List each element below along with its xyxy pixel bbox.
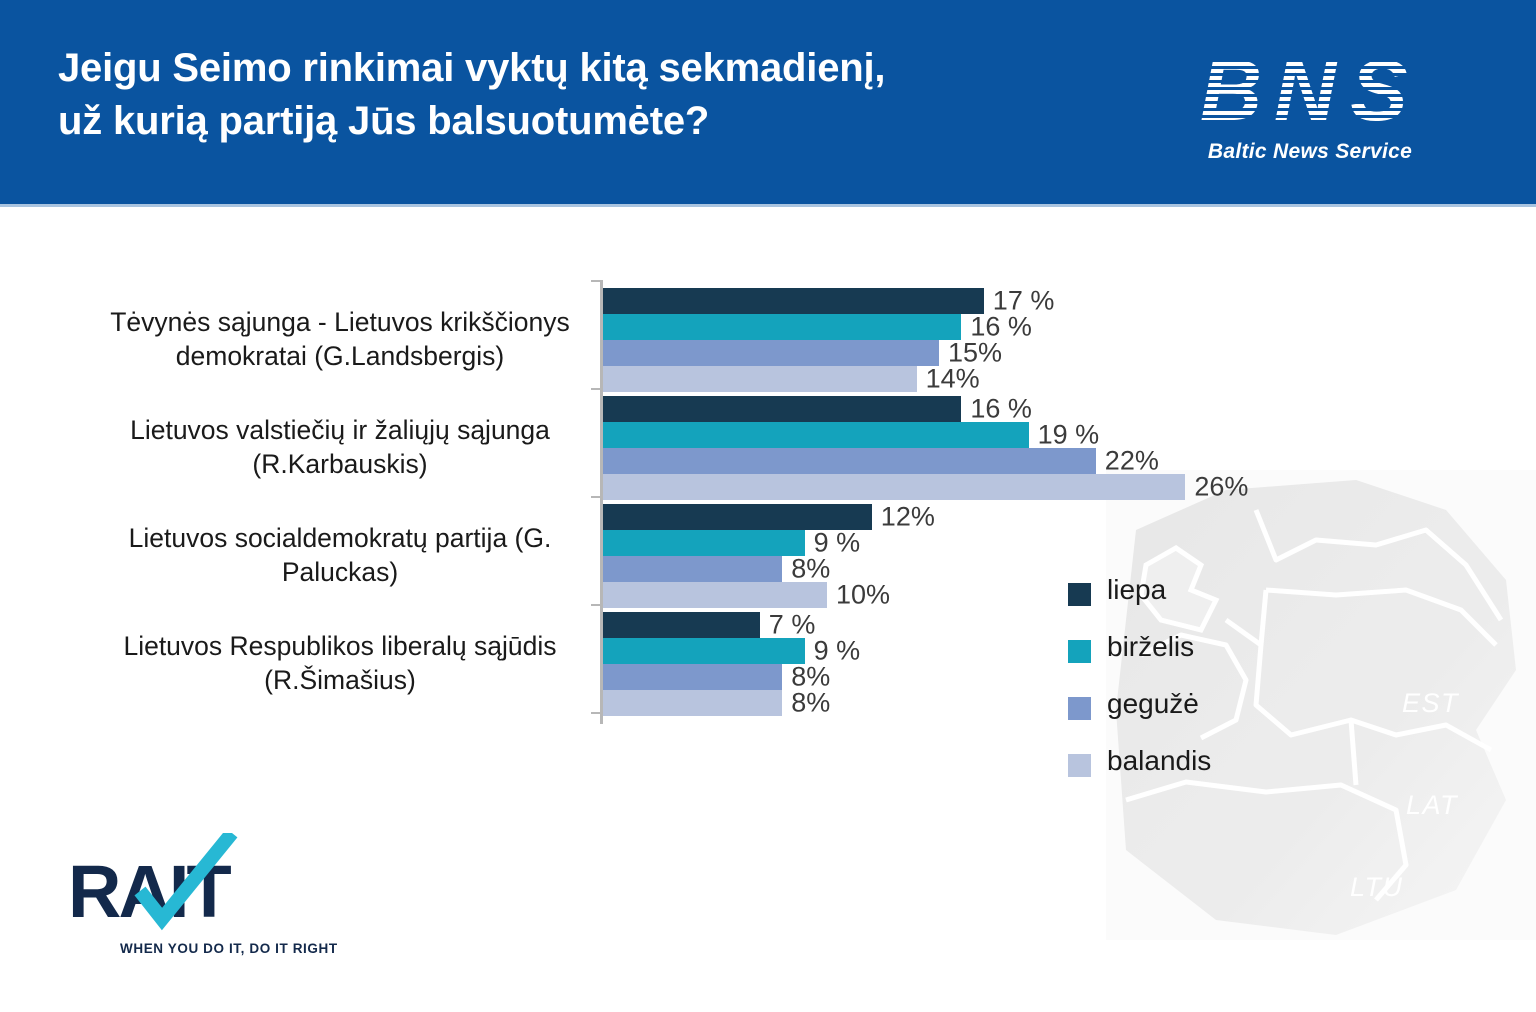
bns-logo-letter-s: S bbox=[1344, 48, 1412, 136]
bar bbox=[603, 396, 961, 422]
category-label: Lietuvos Respublikos liberalų sąjūdis (R… bbox=[100, 630, 580, 698]
bar-group-row: 15% bbox=[603, 340, 1303, 366]
bar bbox=[603, 340, 939, 366]
legend-item[interactable]: balandis bbox=[1068, 743, 1298, 800]
map-label-ltu: LTU bbox=[1350, 872, 1404, 903]
chart-legend: liepabirželisgegužėbalandis bbox=[1068, 572, 1298, 800]
legend-label: balandis bbox=[1107, 745, 1211, 777]
bns-logo-letter-b: B bbox=[1196, 48, 1264, 136]
bns-logo-mark: B N S bbox=[1194, 48, 1426, 136]
bar-value-label: 22% bbox=[1105, 446, 1159, 477]
legend-label: gegužė bbox=[1107, 688, 1199, 720]
axis-tick bbox=[591, 388, 600, 390]
bar-value-label: 26% bbox=[1194, 472, 1248, 503]
bar-group-row: 14% bbox=[603, 366, 1303, 392]
bar bbox=[603, 638, 805, 664]
bar-group-row: 26% bbox=[603, 474, 1303, 500]
bar bbox=[603, 504, 872, 530]
bar bbox=[603, 664, 782, 690]
bar-value-label: 14% bbox=[926, 364, 980, 395]
rait-wordmark: RAIT bbox=[68, 855, 229, 929]
legend-swatch-icon bbox=[1068, 640, 1091, 663]
rait-logo: RAIT WHEN YOU DO IT, DO IT RIGHT bbox=[68, 855, 328, 975]
rait-tagline: WHEN YOU DO IT, DO IT RIGHT bbox=[120, 941, 338, 956]
bar-group-row: 12% bbox=[603, 504, 1303, 530]
bar bbox=[603, 448, 1096, 474]
bar-group-row: 16 % bbox=[603, 314, 1303, 340]
bar bbox=[603, 530, 805, 556]
bar bbox=[603, 314, 961, 340]
bar bbox=[603, 582, 827, 608]
bar bbox=[603, 288, 984, 314]
bar-group-row: 16 % bbox=[603, 396, 1303, 422]
map-label-est: EST bbox=[1402, 688, 1459, 719]
bar bbox=[603, 366, 917, 392]
legend-label: liepa bbox=[1107, 574, 1166, 606]
category-label: Lietuvos valstiečių ir žaliųjų sąjunga (… bbox=[100, 414, 580, 482]
axis-tick bbox=[591, 280, 600, 282]
category-label: Lietuvos socialdemokratų partija (G. Pal… bbox=[100, 522, 580, 590]
map-label-lat: LAT bbox=[1406, 790, 1458, 821]
bar-value-label: 7 % bbox=[769, 610, 816, 641]
header-underline bbox=[0, 204, 1536, 207]
legend-swatch-icon bbox=[1068, 583, 1091, 606]
axis-tick bbox=[591, 604, 600, 606]
legend-label: birželis bbox=[1107, 631, 1194, 663]
legend-swatch-icon bbox=[1068, 697, 1091, 720]
bar-value-label: 8% bbox=[791, 688, 830, 719]
category-axis-labels: Tėvynės sąjunga - Lietuvos krikščionys d… bbox=[100, 240, 580, 690]
bar bbox=[603, 612, 760, 638]
bar bbox=[603, 474, 1185, 500]
bar-value-label: 19 % bbox=[1038, 420, 1100, 451]
bar bbox=[603, 422, 1029, 448]
legend-item[interactable]: birželis bbox=[1068, 629, 1298, 686]
bar-group-row: 19 % bbox=[603, 422, 1303, 448]
bar bbox=[603, 556, 782, 582]
bar-group-row: 9 % bbox=[603, 530, 1303, 556]
axis-tick bbox=[591, 496, 600, 498]
bns-logo-letter-n: N bbox=[1270, 48, 1338, 136]
bar-value-label: 12% bbox=[881, 502, 935, 533]
bns-logo-caption: Baltic News Service bbox=[1190, 140, 1430, 164]
bar bbox=[603, 690, 782, 716]
axis-tick bbox=[591, 712, 600, 714]
category-label: Tėvynės sąjunga - Lietuvos krikščionys d… bbox=[100, 306, 580, 374]
page-title: Jeigu Seimo rinkimai vyktų kitą sekmadie… bbox=[58, 42, 1148, 148]
legend-item[interactable]: liepa bbox=[1068, 572, 1298, 629]
bar-group-row: 17 % bbox=[603, 288, 1303, 314]
bar-group-row: 22% bbox=[603, 448, 1303, 474]
bar-value-label: 16 % bbox=[970, 394, 1032, 425]
legend-swatch-icon bbox=[1068, 754, 1091, 777]
page-title-line-1: Jeigu Seimo rinkimai vyktų kitą sekmadie… bbox=[58, 42, 1148, 95]
bar-value-label: 8% bbox=[791, 554, 830, 585]
legend-item[interactable]: gegužė bbox=[1068, 686, 1298, 743]
bns-logo: B N S Baltic News Service bbox=[1190, 48, 1430, 168]
page-title-line-2: už kurią partiją Jūs balsuotumėte? bbox=[58, 95, 1148, 148]
bar-value-label: 10% bbox=[836, 580, 890, 611]
